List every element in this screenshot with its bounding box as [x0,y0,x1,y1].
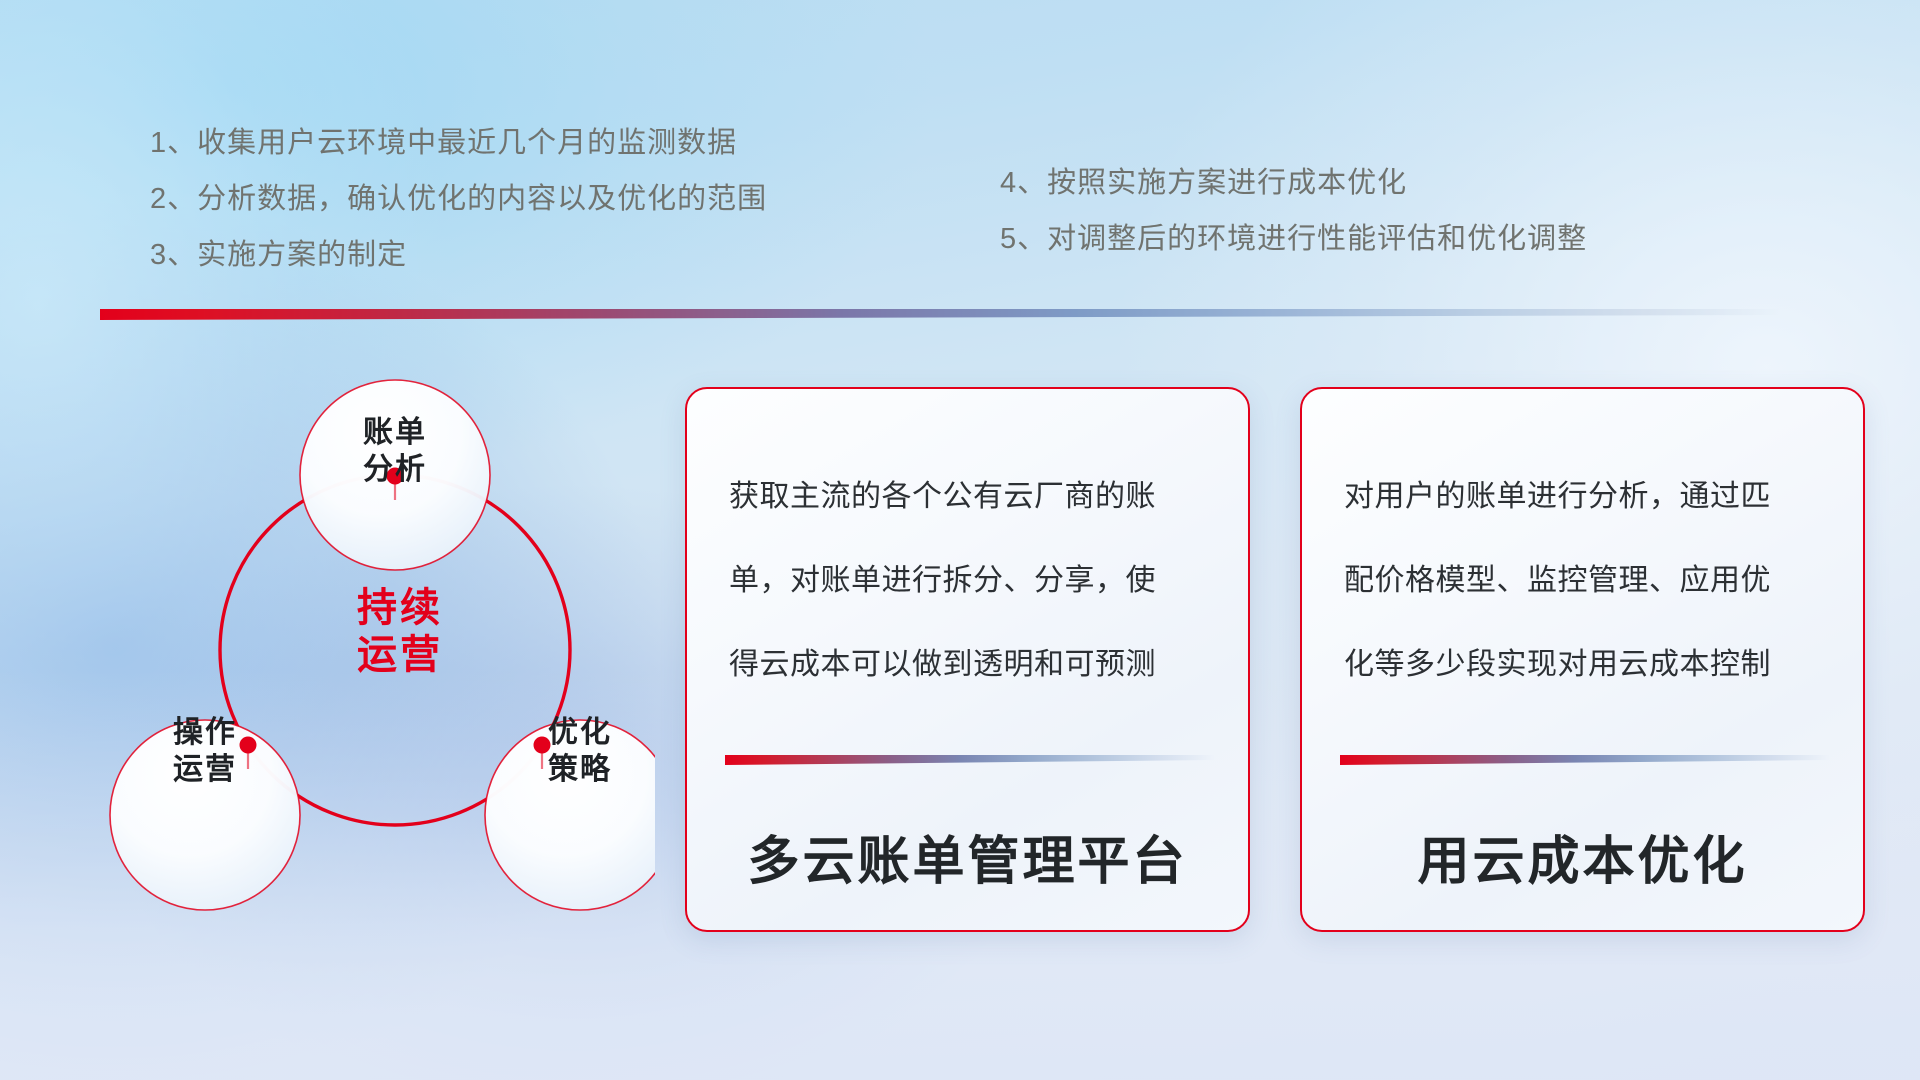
card-title: 多云账单管理平台 [687,819,1248,894]
venn-label-line-2: 分析 [310,452,480,489]
venn-label-line-2: 策略 [495,752,665,789]
card-body-line: 配价格模型、监控管理、应用优 [1344,539,1837,623]
venn-label-billing-analysis: 账单 分析 [310,415,480,488]
card-body-line: 单，对账单进行拆分、分享，使 [729,539,1222,623]
card-divider-gradient [725,755,1215,765]
card-body-line: 对用户的账单进行分析，通过匹 [1344,455,1837,539]
step-item-4: 4、 按照实施方案进行成本优化 [1000,155,1587,211]
venn-label-operation: 操作 运营 [120,715,290,788]
step-text: 按照实施方案进行成本优化 [1047,155,1407,211]
venn-label-line-1: 操作 [120,715,290,752]
card-body-text: 获取主流的各个公有云厂商的账 单，对账单进行拆分、分享，使 得云成本可以做到透明… [729,455,1222,707]
step-item-2: 2、 分析数据，确认优化的内容以及优化的范围 [150,171,767,227]
step-number: 3、 [150,227,197,283]
card-divider-gradient [1340,755,1830,765]
card-cloud-cost-optimization[interactable]: 对用户的账单进行分析，通过匹 配价格模型、监控管理、应用优 化等多少段实现对用云… [1300,387,1865,932]
card-title: 用云成本优化 [1302,819,1863,894]
venn-label-line-1: 账单 [310,415,480,452]
step-text: 收集用户云环境中最近几个月的监测数据 [197,115,737,171]
card-divider-bar [1340,755,1830,765]
step-number: 1、 [150,115,197,171]
steps-left-column: 1、 收集用户云环境中最近几个月的监测数据 2、 分析数据，确认优化的内容以及优… [150,115,767,283]
card-multi-cloud-billing[interactable]: 获取主流的各个公有云厂商的账 单，对账单进行拆分、分享，使 得云成本可以做到透明… [685,387,1250,932]
venn-center-label: 持续 运营 [325,585,475,679]
venn-label-optimization-strategy: 优化 策略 [495,715,665,788]
step-item-5: 5、 对调整后的环境进行性能评估和优化调整 [1000,211,1587,267]
step-item-3: 3、 实施方案的制定 [150,227,767,283]
step-number: 5、 [1000,211,1047,267]
venn-center-line-1: 持续 [325,585,475,632]
step-text: 分析数据，确认优化的内容以及优化的范围 [197,171,767,227]
section-divider-bar [100,309,1780,320]
venn-label-line-1: 优化 [495,715,665,752]
card-body-line: 得云成本可以做到透明和可预测 [729,623,1222,707]
step-item-1: 1、 收集用户云环境中最近几个月的监测数据 [150,115,767,171]
step-text: 实施方案的制定 [197,227,407,283]
steps-right-column: 4、 按照实施方案进行成本优化 5、 对调整后的环境进行性能评估和优化调整 [1000,155,1587,267]
card-body-line: 获取主流的各个公有云厂商的账 [729,455,1222,539]
venn-center-line-2: 运营 [325,632,475,679]
card-body-text: 对用户的账单进行分析，通过匹 配价格模型、监控管理、应用优 化等多少段实现对用云… [1344,455,1837,707]
continuous-operation-diagram: 账单 分析 操作 运营 优化 策略 持续 运营 [95,360,655,940]
step-text: 对调整后的环境进行性能评估和优化调整 [1047,211,1587,267]
step-number: 4、 [1000,155,1047,211]
divider-gradient [100,309,1780,320]
venn-label-line-2: 运营 [120,752,290,789]
step-number: 2、 [150,171,197,227]
card-body-line: 化等多少段实现对用云成本控制 [1344,623,1837,707]
card-divider-bar [725,755,1215,765]
